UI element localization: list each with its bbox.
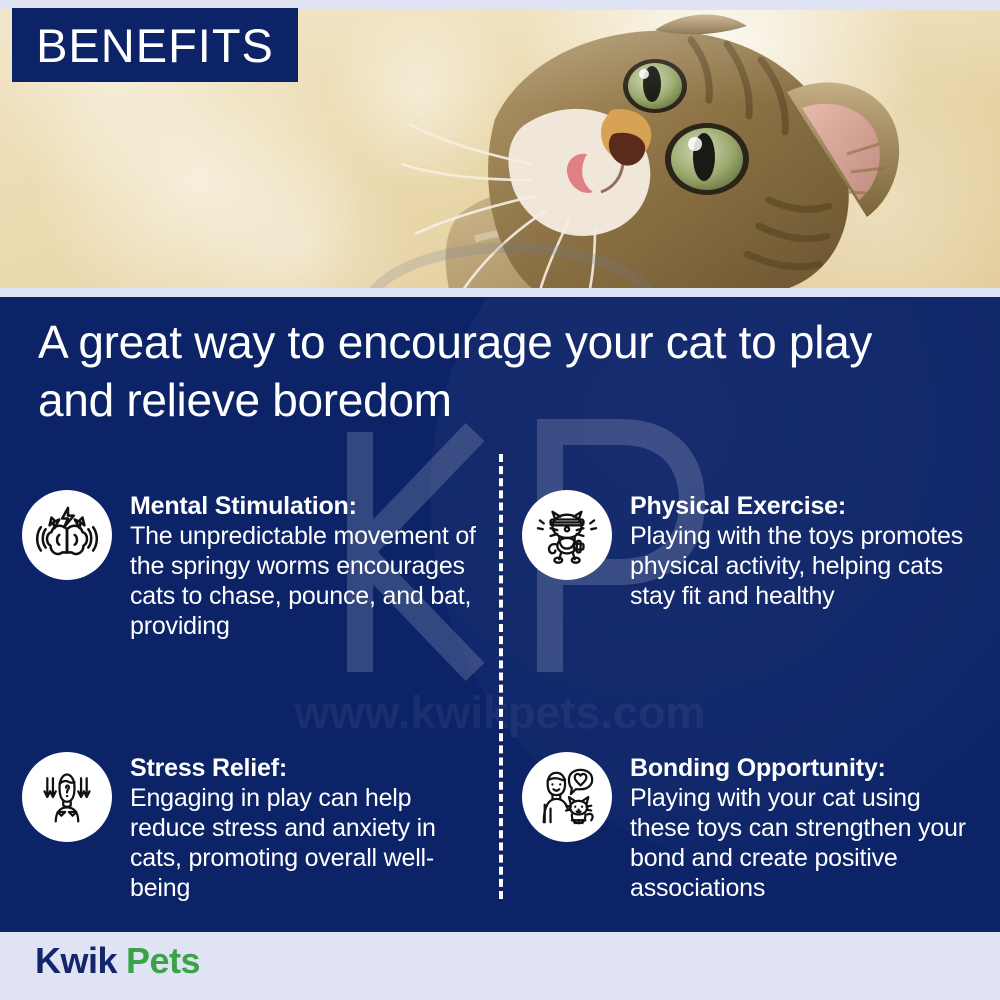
benefit-text-block: Stress Relief: Engaging in play can help… xyxy=(130,752,482,903)
page-title: A great way to encourage your cat to pla… xyxy=(38,313,948,429)
benefits-panel: www.kwikpets.com A great way to encourag… xyxy=(0,297,1000,932)
benefit-text-block: Physical Exercise: Playing with the toys… xyxy=(630,490,982,611)
benefit-item-stress-relief: Stress Relief: Engaging in play can help… xyxy=(22,752,482,903)
benefit-title: Stress Relief: xyxy=(130,753,482,783)
benefit-description: Playing with the toys promotes physical … xyxy=(630,522,963,610)
cat-dumbbell-icon xyxy=(522,490,612,580)
benefit-title: Physical Exercise: xyxy=(630,491,982,521)
benefit-item-mental-stimulation: Mental Stimulation: The unpredictable mo… xyxy=(22,490,482,641)
benefit-title: Mental Stimulation: xyxy=(130,491,482,521)
footer: KwikPets xyxy=(0,932,1000,1000)
benefit-description: The unpredictable movement of the spring… xyxy=(130,522,476,640)
logo-kwik: Kwik xyxy=(35,940,117,981)
column-divider xyxy=(499,454,503,899)
benefit-description: Engaging in play can help reduce stress … xyxy=(130,784,436,902)
benefit-description: Playing with your cat using these toys c… xyxy=(630,784,966,902)
mid-strip xyxy=(0,288,1000,297)
benefit-item-bonding-opportunity: Bonding Opportunity: Playing with your c… xyxy=(522,752,982,903)
infographic-page: BENEFITS www.kwikpets.com A great way to… xyxy=(0,0,1000,1000)
benefits-badge: BENEFITS xyxy=(12,8,298,82)
benefit-item-physical-exercise: Physical Exercise: Playing with the toys… xyxy=(522,490,982,611)
benefits-badge-label: BENEFITS xyxy=(36,18,274,73)
kwik-pets-logo[interactable]: KwikPets xyxy=(35,940,200,982)
benefit-text-block: Mental Stimulation: The unpredictable mo… xyxy=(130,490,482,641)
brain-lightning-icon xyxy=(22,490,112,580)
stressed-person-icon xyxy=(22,752,112,842)
logo-pets: Pets xyxy=(126,940,200,981)
person-cat-heart-icon xyxy=(522,752,612,842)
benefit-text-block: Bonding Opportunity: Playing with your c… xyxy=(630,752,982,903)
benefit-title: Bonding Opportunity: xyxy=(630,753,982,783)
